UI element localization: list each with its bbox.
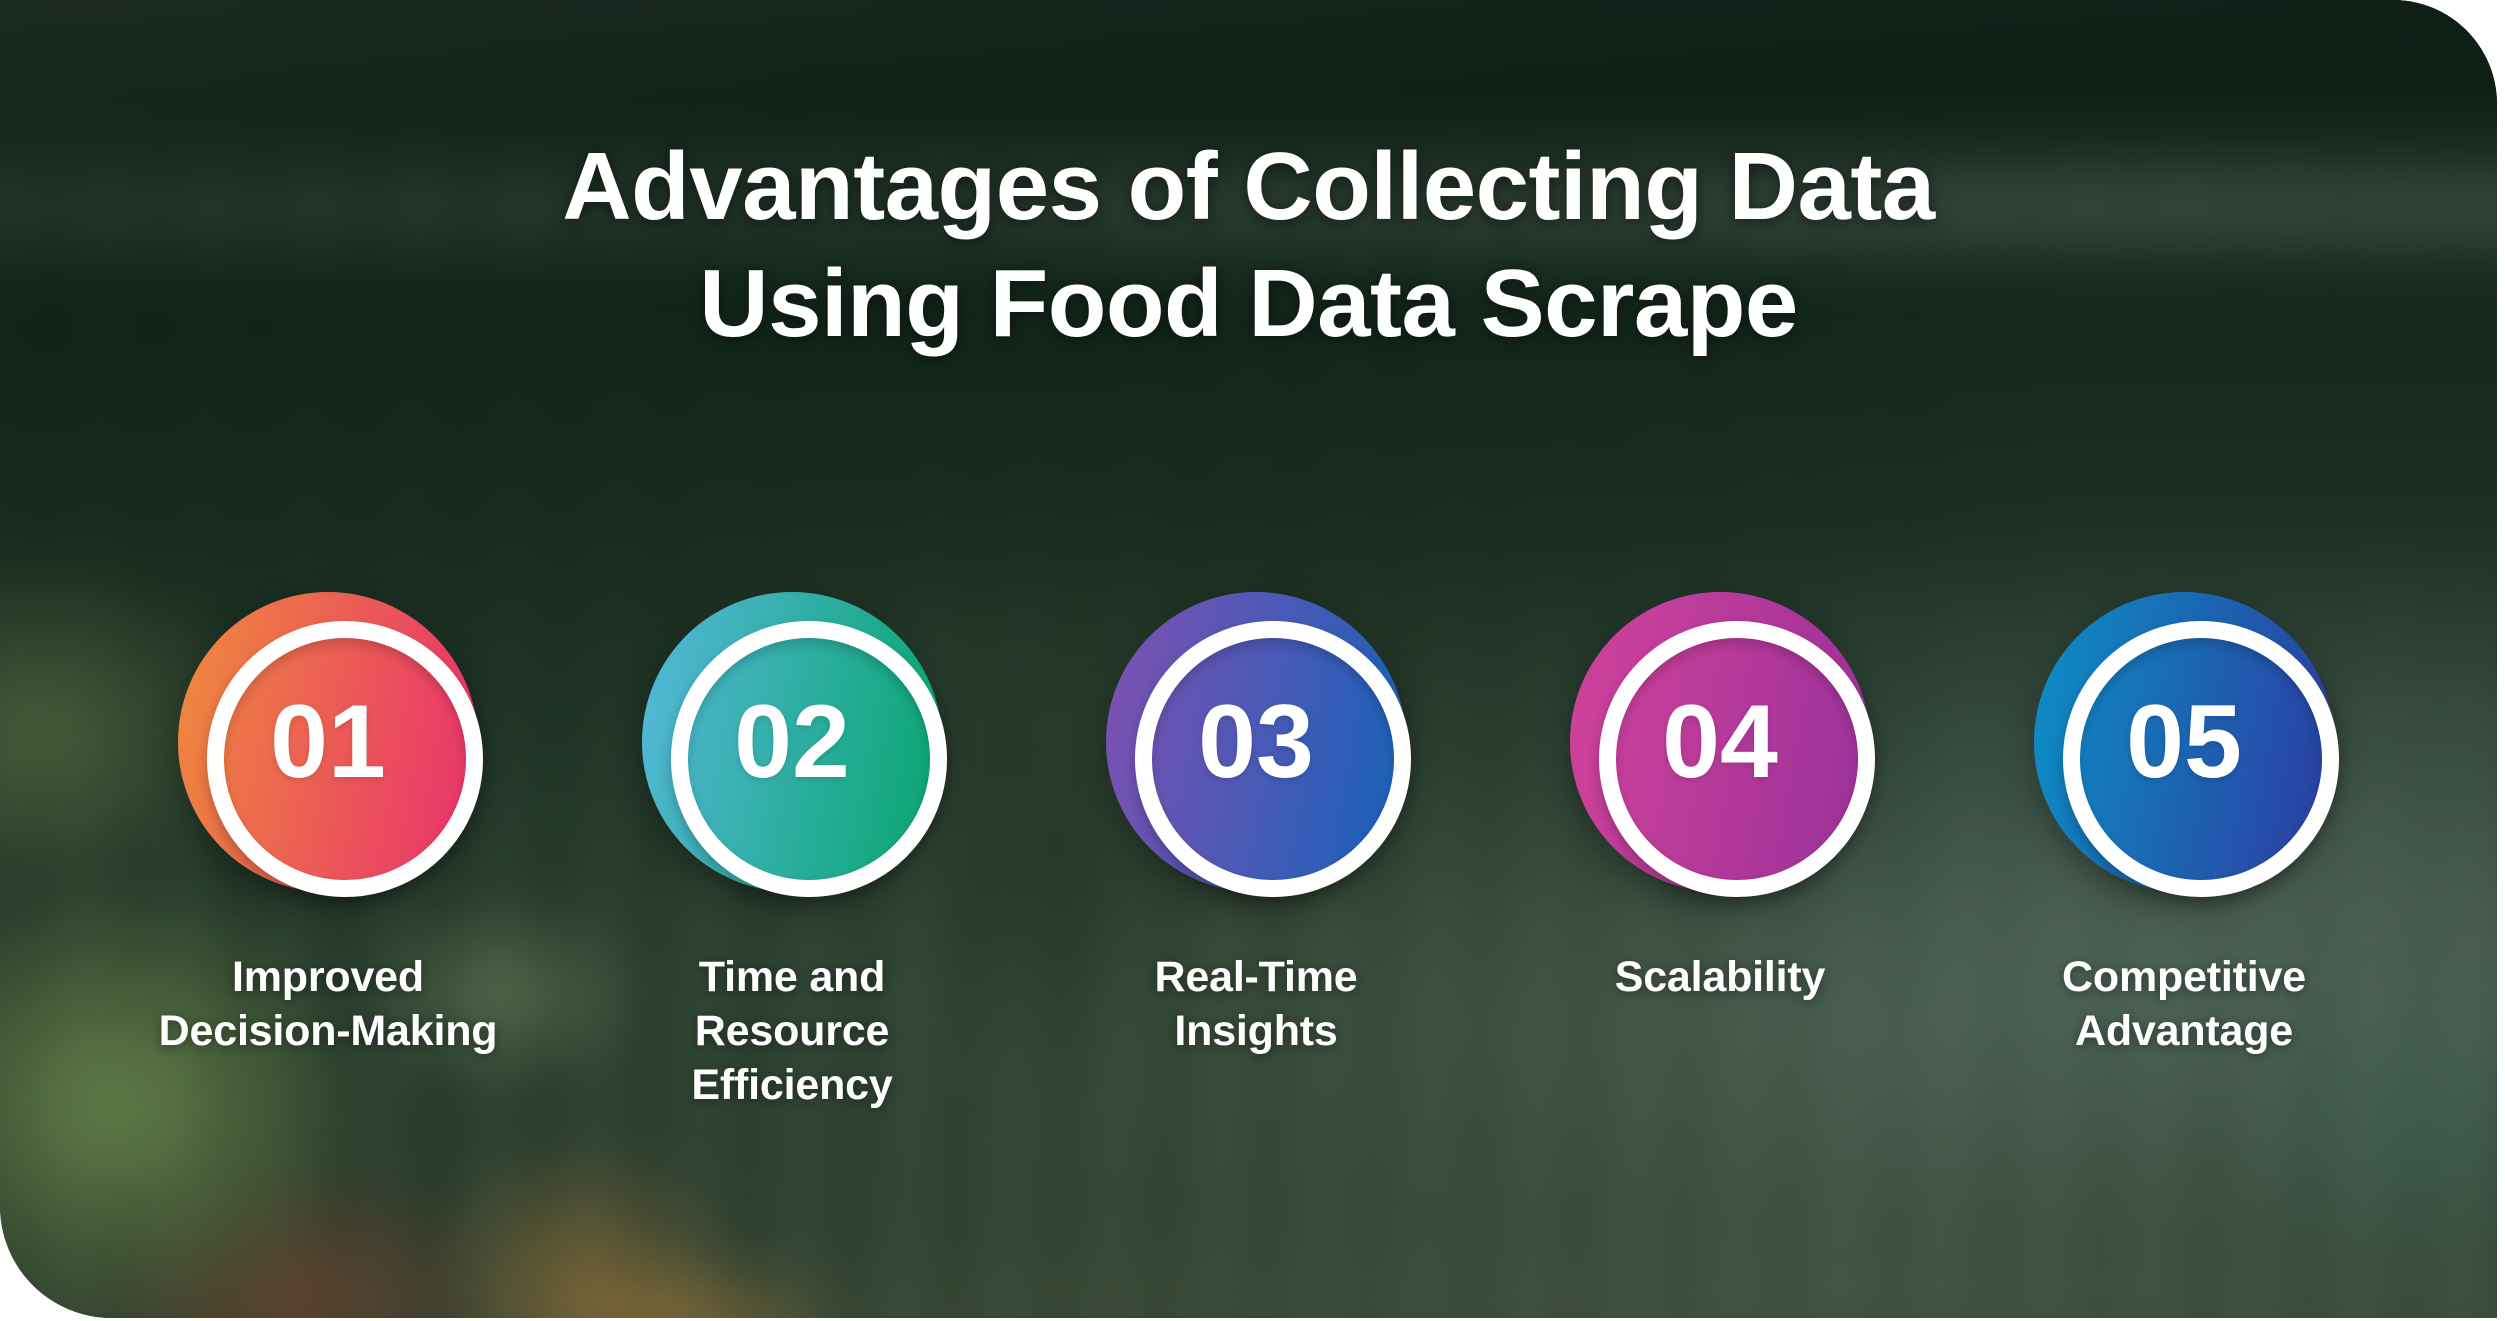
list-item-advantage-01: 01 Improved Decision-Making bbox=[96, 592, 560, 1058]
advantages-list: 01 Improved Decision-Making 02 Time and … bbox=[96, 592, 2416, 1113]
page-title: Advantages of Collecting Data Using Food… bbox=[0, 128, 2497, 362]
step-number-02: 02 bbox=[734, 690, 850, 794]
step-badge-01: 01 bbox=[178, 592, 478, 892]
list-item-advantage-02: 02 Time and Resource Efficiency bbox=[560, 592, 1024, 1113]
step-number-03: 03 bbox=[1198, 690, 1314, 794]
list-item-advantage-04: 04 Scalability bbox=[1488, 592, 1952, 1004]
step-label-03: Real-Time Insights bbox=[1046, 950, 1466, 1058]
step-label-02: Time and Resource Efficiency bbox=[582, 950, 1002, 1113]
step-label-05: Competitive Advantage bbox=[1974, 950, 2394, 1058]
step-number-01: 01 bbox=[270, 690, 386, 794]
list-item-advantage-03: 03 Real-Time Insights bbox=[1024, 592, 1488, 1058]
step-label-04: Scalability bbox=[1510, 950, 1930, 1004]
step-number-05: 05 bbox=[2126, 690, 2242, 794]
step-badge-03: 03 bbox=[1106, 592, 1406, 892]
step-label-01: Improved Decision-Making bbox=[118, 950, 538, 1058]
infographic-banner: Advantages of Collecting Data Using Food… bbox=[0, 0, 2497, 1318]
step-badge-02: 02 bbox=[642, 592, 942, 892]
banner-content: Advantages of Collecting Data Using Food… bbox=[0, 0, 2497, 1318]
step-badge-04: 04 bbox=[1570, 592, 1870, 892]
list-item-advantage-05: 05 Competitive Advantage bbox=[1952, 592, 2416, 1058]
step-number-04: 04 bbox=[1662, 690, 1778, 794]
step-badge-05: 05 bbox=[2034, 592, 2334, 892]
